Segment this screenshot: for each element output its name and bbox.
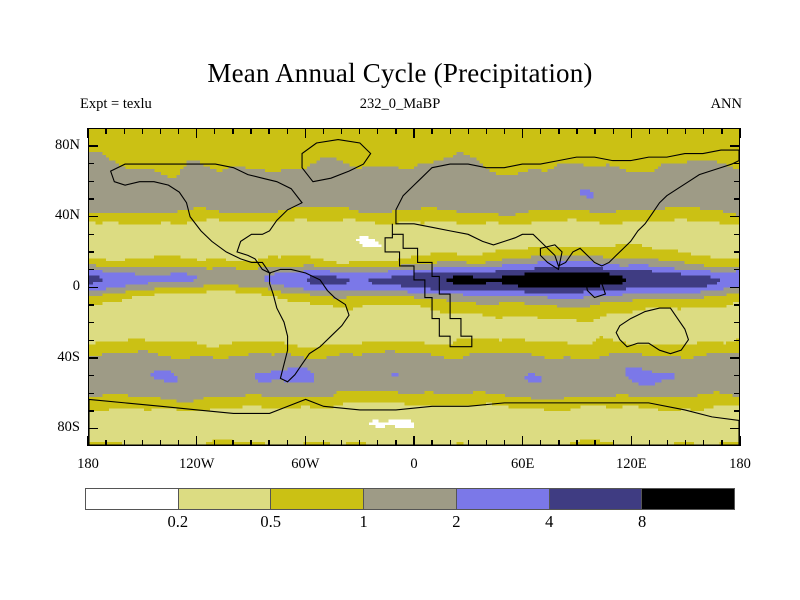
x-tick — [739, 128, 740, 138]
x-axis-label: 120E — [596, 456, 666, 473]
x-tick — [721, 128, 722, 134]
x-tick — [287, 440, 288, 446]
y-tick — [734, 181, 740, 182]
y-axis-label-80N: 80N — [28, 137, 80, 154]
y-tick — [88, 163, 94, 164]
x-tick — [323, 128, 324, 134]
x-tick — [522, 436, 523, 446]
x-tick — [540, 440, 541, 446]
x-tick — [558, 128, 559, 134]
colorbar-band-3 — [364, 489, 457, 509]
x-tick — [160, 128, 161, 134]
colorbar-band-5 — [550, 489, 643, 509]
x-axis-label: 180 — [53, 456, 123, 473]
y-tick — [88, 198, 94, 199]
x-tick — [305, 436, 306, 446]
x-tick — [431, 440, 432, 446]
x-tick — [631, 128, 632, 138]
x-tick — [268, 128, 269, 134]
y-tick — [88, 234, 94, 235]
y-tick — [730, 357, 740, 358]
x-tick — [232, 128, 233, 134]
x-tick — [540, 128, 541, 134]
y-tick — [88, 322, 94, 323]
x-tick — [504, 128, 505, 134]
y-tick — [88, 357, 98, 358]
y-tick — [88, 428, 98, 429]
x-tick — [341, 128, 342, 134]
x-tick — [649, 128, 650, 134]
colorbar-label-8: 8 — [612, 512, 672, 532]
x-axis-label: 120W — [162, 456, 232, 473]
x-tick — [395, 128, 396, 134]
x-tick — [486, 128, 487, 134]
y-tick — [730, 428, 740, 429]
x-tick — [468, 128, 469, 134]
y-tick — [88, 410, 94, 411]
x-tick — [504, 440, 505, 446]
x-tick — [667, 440, 668, 446]
x-tick — [739, 436, 740, 446]
y-tick — [734, 198, 740, 199]
map-plot-area — [88, 128, 740, 446]
x-tick — [594, 128, 595, 134]
precipitation-map-figure: Mean Annual Cycle (Precipitation) Expt =… — [0, 0, 800, 600]
x-tick — [450, 128, 451, 134]
y-tick — [734, 251, 740, 252]
colorbar-label-4: 4 — [519, 512, 579, 532]
x-tick — [431, 128, 432, 134]
x-tick — [196, 128, 197, 138]
x-tick — [268, 440, 269, 446]
x-tick — [594, 440, 595, 446]
x-axis-label: 60W — [270, 456, 340, 473]
season-label: ANN — [711, 96, 742, 113]
y-tick — [88, 375, 94, 376]
x-tick — [287, 128, 288, 134]
y-tick — [730, 287, 740, 288]
x-tick — [685, 128, 686, 134]
x-tick — [413, 128, 414, 138]
x-tick — [486, 440, 487, 446]
x-tick — [323, 440, 324, 446]
x-tick — [178, 128, 179, 134]
x-tick — [305, 128, 306, 138]
x-tick — [703, 440, 704, 446]
y-axis-label-0: 0 — [28, 278, 80, 295]
y-axis-label-40N: 40N — [28, 207, 80, 224]
x-tick — [250, 440, 251, 446]
x-tick — [160, 440, 161, 446]
x-axis-label: 180 — [705, 456, 775, 473]
case-label: 232_0_MaBP — [0, 96, 800, 113]
x-tick — [214, 440, 215, 446]
x-tick — [142, 440, 143, 446]
x-tick — [685, 440, 686, 446]
colorbar-label-1: 1 — [334, 512, 394, 532]
y-tick — [734, 393, 740, 394]
x-tick — [468, 440, 469, 446]
colorbar-band-2 — [271, 489, 364, 509]
x-tick — [377, 128, 378, 134]
x-tick — [413, 436, 414, 446]
y-tick — [88, 287, 98, 288]
y-tick — [734, 322, 740, 323]
colorbar-band-1 — [179, 489, 272, 509]
x-tick — [87, 128, 88, 138]
x-tick — [631, 436, 632, 446]
y-tick — [734, 375, 740, 376]
x-tick — [250, 128, 251, 134]
x-tick — [105, 128, 106, 134]
x-tick — [667, 128, 668, 134]
y-tick — [88, 304, 94, 305]
colorbar-band-6 — [642, 489, 734, 509]
x-tick — [124, 128, 125, 134]
x-tick — [450, 440, 451, 446]
y-tick — [734, 340, 740, 341]
y-tick — [730, 145, 740, 146]
y-tick — [734, 163, 740, 164]
x-tick — [232, 440, 233, 446]
x-tick — [721, 440, 722, 446]
y-tick — [88, 181, 94, 182]
colorbar-band-0 — [86, 489, 179, 509]
x-tick — [703, 128, 704, 134]
x-tick — [214, 128, 215, 134]
x-tick — [522, 128, 523, 138]
precipitation-contour-field — [89, 129, 739, 445]
x-tick — [359, 128, 360, 134]
x-tick — [576, 128, 577, 134]
y-tick — [730, 216, 740, 217]
y-axis-label-80S: 80S — [28, 419, 80, 436]
x-tick — [395, 440, 396, 446]
x-tick — [341, 440, 342, 446]
y-axis-label-40S: 40S — [28, 349, 80, 366]
x-tick — [558, 440, 559, 446]
x-tick — [649, 440, 650, 446]
x-tick — [105, 440, 106, 446]
colorbar-band-4 — [457, 489, 550, 509]
y-tick — [734, 234, 740, 235]
y-tick — [88, 145, 98, 146]
x-tick — [87, 436, 88, 446]
x-tick — [613, 440, 614, 446]
colorbar — [85, 488, 735, 510]
y-tick — [88, 251, 94, 252]
y-tick — [88, 269, 94, 270]
y-tick — [88, 340, 94, 341]
colorbar-label-2: 2 — [426, 512, 486, 532]
x-axis-label: 60E — [488, 456, 558, 473]
y-tick — [734, 410, 740, 411]
x-tick — [576, 440, 577, 446]
y-tick — [88, 216, 98, 217]
page-title: Mean Annual Cycle (Precipitation) — [0, 58, 800, 89]
x-tick — [178, 440, 179, 446]
y-tick — [734, 269, 740, 270]
x-tick — [359, 440, 360, 446]
x-tick — [377, 440, 378, 446]
x-tick — [124, 440, 125, 446]
x-tick — [196, 436, 197, 446]
y-tick — [88, 393, 94, 394]
colorbar-label-0.5: 0.5 — [241, 512, 301, 532]
x-tick — [613, 128, 614, 134]
y-tick — [734, 304, 740, 305]
colorbar-label-0.2: 0.2 — [148, 512, 208, 532]
x-axis-label: 0 — [379, 456, 449, 473]
x-tick — [142, 128, 143, 134]
